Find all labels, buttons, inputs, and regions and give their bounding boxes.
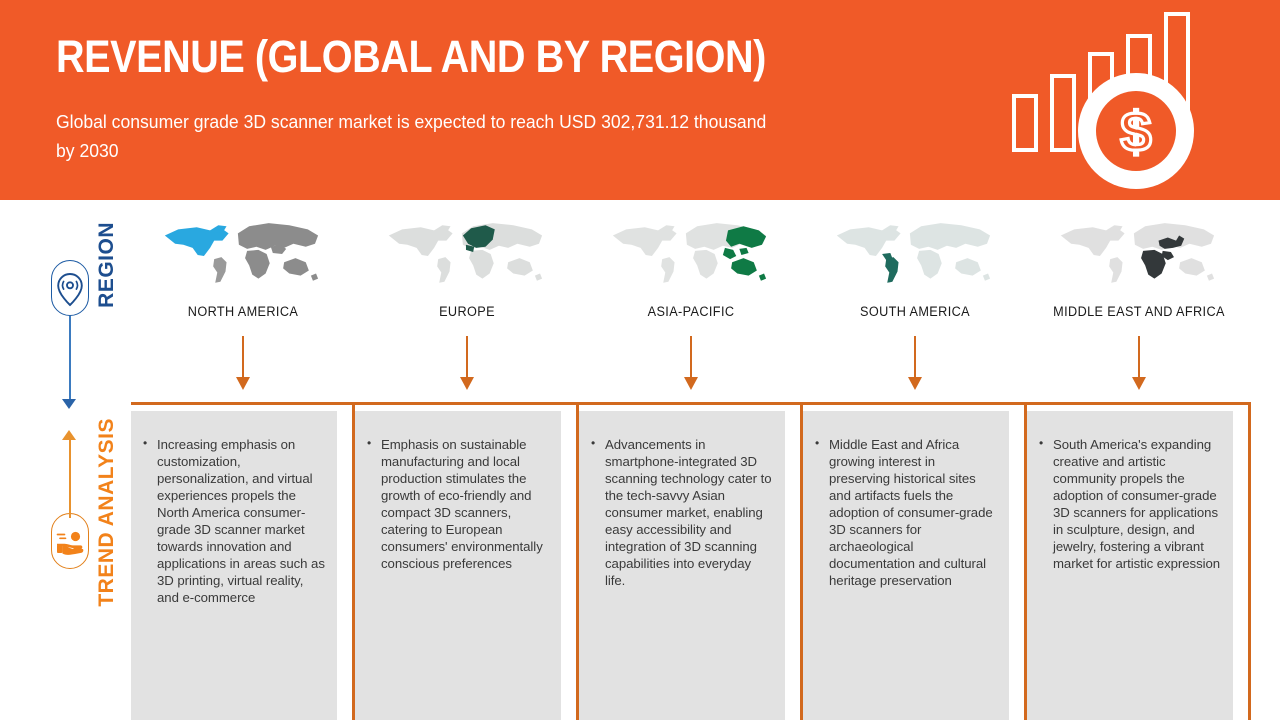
bar-2: [1050, 74, 1076, 152]
trend-card-north-america[interactable]: Increasing emphasis on customization, pe…: [131, 411, 337, 720]
connector-line-2: [466, 336, 468, 380]
region-label-middle-east-africa: MIDDLE EAST AND AFRICA: [1053, 304, 1225, 319]
connector-line-5: [1138, 336, 1140, 380]
page-subtitle: Global consumer grade 3D scanner market …: [56, 108, 778, 165]
region-label-south-america: SOUTH AMERICA: [860, 304, 970, 319]
world-map-asia-pacific-icon: [607, 218, 775, 290]
content-area: REGION TREND ANALYSIS N: [0, 200, 1280, 720]
dollar-coin-icon: $: [1078, 73, 1194, 189]
connector-arrow-4: [908, 377, 922, 390]
world-map-europe-icon: [383, 218, 551, 290]
connector-line-3: [690, 336, 692, 380]
trend-card-middle-east-africa[interactable]: South America's expanding creative and a…: [1027, 411, 1233, 720]
world-map-south-america-icon: [831, 218, 999, 290]
connector-arrow-5: [1132, 377, 1146, 390]
trend-card-europe[interactable]: Emphasis on sustainable manufacturing an…: [355, 411, 561, 720]
trend-bullet: Increasing emphasis on customization, pe…: [157, 437, 325, 607]
region-label-europe: EUROPE: [439, 304, 495, 319]
trend-icon-frame: [51, 513, 89, 569]
region-icon-frame: [51, 260, 89, 316]
trend-bullet: Advancements in smartphone-integrated 3D…: [605, 437, 773, 590]
location-pin-icon: [52, 261, 88, 315]
bar-chart-dollar-icon: $: [1000, 25, 1200, 190]
connector-arrow-2: [460, 377, 474, 390]
svg-text:$: $: [1120, 100, 1151, 163]
trend-card-asia-pacific[interactable]: Advancements in smartphone-integrated 3D…: [579, 411, 785, 720]
trend-axis-label: TREND ANALYSIS: [95, 418, 119, 607]
connector-arrow-1: [236, 377, 250, 390]
dollar-sign-icon: $: [1096, 91, 1176, 171]
trend-connector-line: [69, 440, 71, 518]
connector-line-1: [242, 336, 244, 380]
region-connector-line: [69, 316, 71, 401]
region-label-north-america: NORTH AMERICA: [188, 304, 298, 319]
connector-arrow-3: [684, 377, 698, 390]
hand-coin-icon: [52, 514, 88, 568]
region-arrow-head: [62, 399, 76, 409]
world-map-middle-east-africa-icon: [1055, 218, 1223, 290]
header-banner: REVENUE (GLOBAL AND BY REGION) Global co…: [0, 0, 1280, 200]
trend-arrow-head: [62, 430, 76, 440]
trend-bullet: Middle East and Africa growing interest …: [829, 437, 997, 590]
bar-1: [1012, 94, 1038, 152]
region-label-asia-pacific: ASIA-PACIFIC: [648, 304, 735, 319]
trend-bullet: South America's expanding creative and a…: [1053, 437, 1221, 573]
connector-line-4: [914, 336, 916, 380]
region-axis-label: REGION: [95, 222, 119, 308]
trend-bullet: Emphasis on sustainable manufacturing an…: [381, 437, 549, 573]
world-map-north-america-icon: [159, 218, 327, 290]
trend-card-south-america[interactable]: Middle East and Africa growing interest …: [803, 411, 1009, 720]
page-title: REVENUE (GLOBAL AND BY REGION): [56, 32, 766, 82]
